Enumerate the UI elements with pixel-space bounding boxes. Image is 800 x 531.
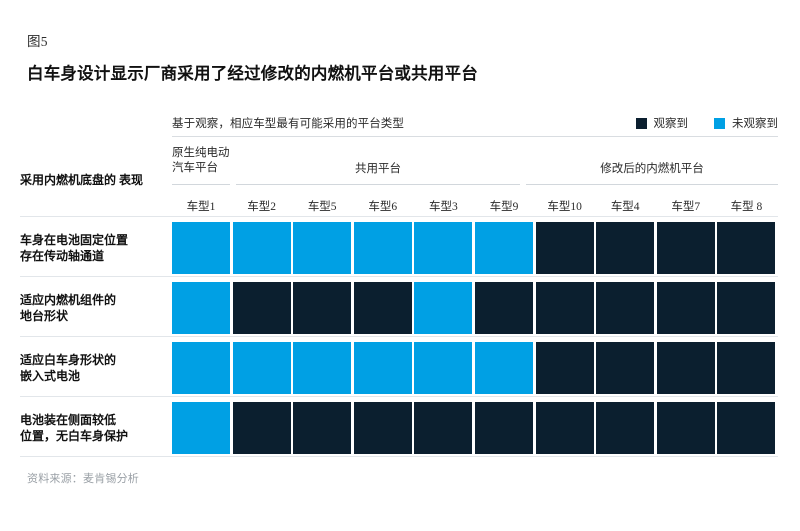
row-label-3: 适应白车身形状的 嵌入式电池: [20, 352, 168, 384]
matrix-cell-r4-c3: [293, 402, 351, 454]
group-underline-modified-ice: [526, 184, 778, 185]
matrix-cell-r3-c4: [354, 342, 412, 394]
matrix-cell-r3-c6: [475, 342, 533, 394]
matrix-cell-r3-c10: [717, 342, 775, 394]
matrix-cell-r1-c1: [172, 222, 230, 274]
matrix-cell-r4-c9: [657, 402, 715, 454]
matrix-cell-r1-c4: [354, 222, 412, 274]
legend-swatch-observed: [636, 118, 647, 129]
column-header-6: 车型9: [475, 198, 533, 214]
row-divider-1: [20, 216, 778, 217]
column-header-1: 车型1: [172, 198, 230, 214]
source-note: 资料来源：麦肯锡分析: [27, 470, 139, 486]
matrix-cell-r2-c8: [596, 282, 654, 334]
matrix-cell-r4-c10: [717, 402, 775, 454]
matrix-cell-r2-c1: [172, 282, 230, 334]
matrix-cell-r2-c5: [414, 282, 472, 334]
matrix-cell-r3-c8: [596, 342, 654, 394]
legend-label-not-observed: 未观察到: [732, 115, 778, 131]
matrix-cell-r1-c2: [233, 222, 291, 274]
matrix-cell-r1-c10: [717, 222, 775, 274]
matrix-cell-r3-c9: [657, 342, 715, 394]
figure-label: 图5: [27, 30, 48, 50]
matrix-cell-r1-c5: [414, 222, 472, 274]
row-label-4: 电池装在侧面较低 位置，无白车身保护: [20, 412, 168, 444]
legend-swatch-not-observed: [714, 118, 725, 129]
column-header-8: 车型4: [596, 198, 654, 214]
matrix-cell-r2-c3: [293, 282, 351, 334]
matrix-cell-r2-c4: [354, 282, 412, 334]
matrix-cell-r3-c2: [233, 342, 291, 394]
matrix-cell-r4-c2: [233, 402, 291, 454]
row-label-1: 车身在电池固定位置 存在传动轴通道: [20, 232, 168, 264]
legend-note: 基于观察，相应车型最有可能采用的平台类型: [172, 115, 404, 131]
group-underline-shared-platform: [236, 184, 520, 185]
matrix-cell-r3-c3: [293, 342, 351, 394]
matrix-cell-r4-c6: [475, 402, 533, 454]
matrix-cell-r3-c5: [414, 342, 472, 394]
matrix-cell-r2-c7: [536, 282, 594, 334]
matrix-cell-r3-c1: [172, 342, 230, 394]
matrix-cell-r4-c8: [596, 402, 654, 454]
legend-label-observed: 观察到: [654, 115, 689, 131]
matrix-cell-r1-c6: [475, 222, 533, 274]
legend-item-observed: 观察到: [636, 115, 689, 131]
matrix-cell-r2-c9: [657, 282, 715, 334]
column-header-7: 车型10: [536, 198, 594, 214]
column-header-4: 车型6: [354, 198, 412, 214]
group-underline-native-bev: [172, 184, 230, 185]
matrix-cell-r1-c9: [657, 222, 715, 274]
row-divider-3: [20, 336, 778, 337]
matrix-cell-r4-c5: [414, 402, 472, 454]
matrix-cell-r4-c1: [172, 402, 230, 454]
matrix-cell-r2-c6: [475, 282, 533, 334]
figure-title: 白车身设计显示厂商采用了经过修改的内燃机平台或共用平台: [27, 60, 478, 84]
legend: 基于观察，相应车型最有可能采用的平台类型 观察到 未观察到: [172, 112, 778, 134]
figure-page: 图5 白车身设计显示厂商采用了经过修改的内燃机平台或共用平台 基于观察，相应车型…: [0, 0, 800, 531]
matrix-cell-r3-c7: [536, 342, 594, 394]
matrix-cell-r2-c2: [233, 282, 291, 334]
column-header-5: 车型3: [414, 198, 472, 214]
group-header-native-bev: 原生纯电动 汽车平台: [172, 146, 230, 176]
matrix-cell-r2-c10: [717, 282, 775, 334]
row-label-2: 适应内燃机组件的 地台形状: [20, 292, 168, 324]
row-divider-bottom: [20, 456, 778, 457]
matrix-cell-r1-c8: [596, 222, 654, 274]
column-header-9: 车型7: [657, 198, 715, 214]
legend-divider: [172, 136, 778, 137]
matrix-cell-r1-c3: [293, 222, 351, 274]
row-header-title: 采用内燃机底盘的 表现: [20, 172, 165, 188]
group-header-shared-platform: 共用平台: [236, 162, 520, 177]
group-header-modified-ice: 修改后的内燃机平台: [526, 162, 778, 177]
legend-item-not-observed: 未观察到: [714, 115, 778, 131]
column-header-2: 车型2: [233, 198, 291, 214]
row-divider-2: [20, 276, 778, 277]
legend-items: 观察到 未观察到: [636, 115, 779, 131]
matrix-cell-r4-c7: [536, 402, 594, 454]
column-header-10: 车型 8: [717, 198, 775, 214]
matrix-cell-r1-c7: [536, 222, 594, 274]
matrix-cell-r4-c4: [354, 402, 412, 454]
row-divider-4: [20, 396, 778, 397]
column-header-3: 车型5: [293, 198, 351, 214]
